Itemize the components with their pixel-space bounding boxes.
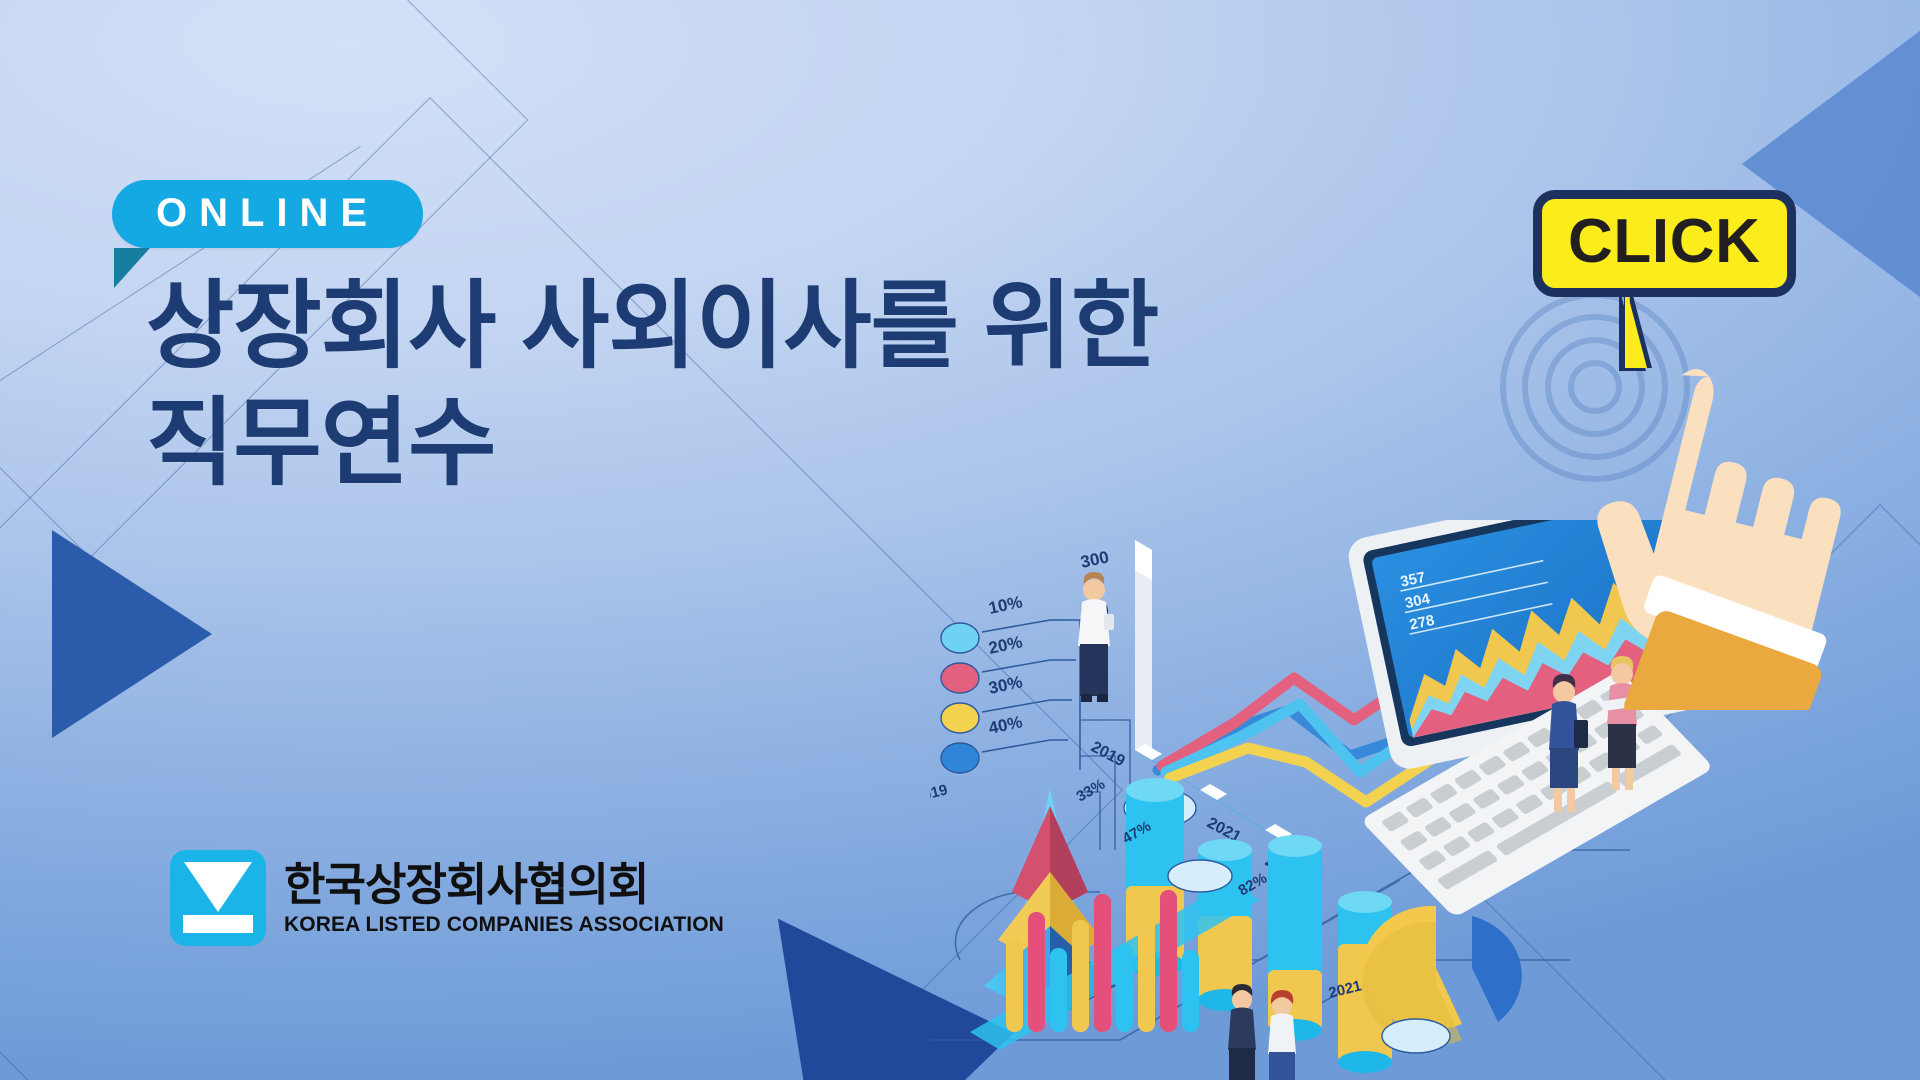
page-title: 상장회사 사외이사를 위한 직무연수 [146,268,1158,502]
svg-text:40%: 40% [987,712,1024,738]
person-standing-left [1078,572,1114,702]
klca-name-korean: 한국상장회사협의회 [284,862,724,907]
svg-text:33%: 33% [1074,776,1109,806]
page-title-line-1: 상장회사 사외이사를 위한 [146,273,1158,380]
svg-text:300: 300 [1079,547,1111,571]
svg-text:20%: 20% [987,632,1024,658]
pointing-hand-icon [1560,330,1890,710]
online-badge-tail [114,248,150,288]
page-title-line-2: 직무연수 [146,385,1158,502]
online-badge-label: ONLINE [112,180,423,248]
svg-text:10%: 10% [987,592,1024,618]
svg-text:2019: 2019 [930,781,949,806]
triangle-left [52,530,212,738]
pie-chart [1362,906,1522,1053]
person-pair-bottom [1228,984,1296,1080]
promo-banner: ONLINE 상장회사 사외이사를 위한 직무연수 CLICK [0,0,1920,1080]
klca-name-english: KOREA LISTED COMPANIES ASSOCIATION [284,914,724,935]
svg-text:2019: 2019 [1088,739,1127,771]
online-badge: ONLINE [112,180,423,248]
klca-logo-mark-icon [170,850,266,946]
klca-logo: 한국상장회사협의회 KOREA LISTED COMPANIES ASSOCIA… [170,850,724,946]
svg-text:30%: 30% [987,672,1024,698]
legend-group: 10% 20% 30% 40% [941,592,1080,773]
click-button[interactable]: CLICK [1533,190,1796,297]
